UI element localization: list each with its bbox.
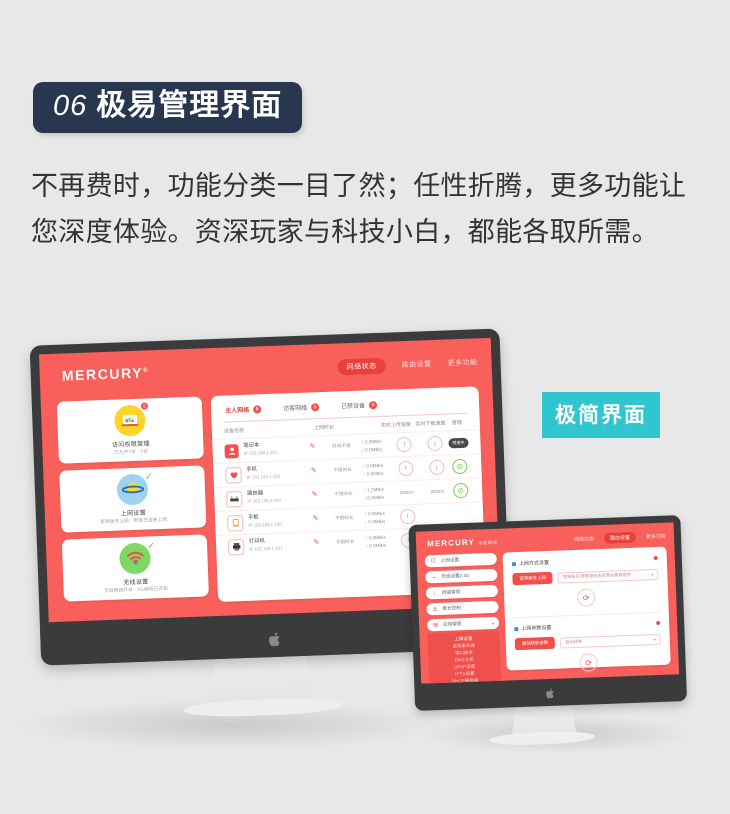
tab-count-badge: 0 [311,403,319,411]
section-number: 06 [53,92,87,121]
device-speed: ↑ 1.2MB/s ↓ 0.0MB/s [358,486,391,502]
display2-sidebar: ⏻ 上网设置 ⌁ 无线设置2.4G ↓ 终端管理 ⚓ 家长控制 [425,553,503,684]
download-speed: ↓ 0.0MB/s [358,493,390,502]
section-title-label: 上网方式设置 [519,559,549,567]
arrow-up-icon: ↑ [397,437,413,453]
download-limit-button[interactable]: ↓ [423,459,451,475]
apple-logo-icon [269,632,283,647]
device-identity: 打印机 IP 192.168.1.107 [228,536,302,555]
download-speed-value: 300K/s [424,488,451,494]
section-bullet-icon [514,627,518,631]
wifi-icon: ⌁ [430,574,437,581]
device-identity: 手机 IP 192.168.1.102 [225,464,299,483]
column-header-device-name: 设备名称 [224,425,308,435]
broadband-dial-button[interactable]: 宽带拨号上网 [512,572,553,585]
section-control-row: 宽带拨号上网 宽带账号/宽带密码由宽带运营商提供 ▾ [512,568,658,585]
card-wireless-settings[interactable]: ✓ 无线设置 无线网络开启 · 5G频段已开启 [62,534,209,601]
display2-top-nav: 网络状态 路由设置 更多功能 [574,531,666,545]
arrow-down-icon: ↓ [429,460,445,476]
section-divider [514,612,660,618]
imac-top-nav: 网络状态 路由设置 更多功能 [337,354,477,375]
tab-host-network[interactable]: 主人网络 5 [225,404,261,414]
laptop-chart-icon: 5 [114,404,146,436]
tab-label: 主人网络 [225,405,249,415]
manage-placeholder [452,514,471,515]
download-limit-value: 300K/s [430,489,444,494]
edit-pencil-icon[interactable]: ✎ [300,490,329,502]
section-title-label: 上网参数设置 [521,624,551,632]
arrow-up-icon: ↑ [398,461,414,477]
card-subtitle: 宽带拨号上网 · 带宽已连接上网 [100,517,167,525]
nav-tab-network-status[interactable]: 网络状态 [337,358,386,376]
sidebar-item-label: 应用管理 [443,621,462,628]
device-ip: IP 192.168.1.104 [247,498,281,506]
wifi-icon: ✓ [119,542,151,574]
card-check-icon: ✓ [147,541,155,550]
sidebar-item-app-management[interactable]: ⚒ 应用管理 ▾ [427,617,499,632]
device-duration: 不限时长 [328,467,357,475]
nav-tab-router-settings[interactable]: 路由设置 [401,359,431,370]
manage-action[interactable]: ⊘ [451,483,471,499]
download-speed: ↓ 0.0MB/s [356,445,388,454]
card-subtitle: 已允许2台 · 5台 [114,449,148,456]
card-title: 访问权限管理 [112,438,150,448]
display2-screen: MERCURY 水星网络 网络状态 路由设置 更多功能 ⏻ 上网设置 ⌁ 无线设… [416,522,679,683]
mercury-logo-text: MERCURY [427,538,475,549]
device-duration: 不限时长 [331,539,360,547]
download-speed: ↓ 0.0MB/s [357,469,389,478]
mercury-logo-subtitle: 水星网络 [478,540,497,546]
tab-guest-network[interactable]: 访客网络 0 [283,402,319,412]
device-identity: 平板 IP 192.168.1.105 [227,512,301,531]
tab-blocked-devices[interactable]: 已禁设备 0 [341,400,377,410]
arrow-up-icon: ↑ [400,509,416,525]
tools-icon: ⚒ [432,621,439,628]
edit-pencil-icon[interactable]: ✎ [299,466,328,478]
download-icon: ↓ [431,590,438,596]
device-duration: 时间不限 [327,443,356,451]
device-ip: IP 192.168.1.101 [244,450,278,458]
card-access-control[interactable]: 5 访问权限管理 已允许2台 · 5台 [57,396,204,463]
sidebar-item-label: 上网设置 [441,557,460,564]
device-ip: IP 192.168.1.107 [249,546,283,554]
card-subtitle: 无线网络开启 · 5G频段已开启 [104,586,168,594]
field-value: 自动获得 [565,639,582,646]
mercury-logo-secondary: MERCURY 水星网络 [427,537,498,549]
upload-limit-button[interactable]: ↑ [387,436,421,452]
minimal-ui-badge: 极简界面 [542,392,660,438]
tab-count-badge: 5 [253,405,261,413]
mercury-logo-text: MERCURY [61,365,143,384]
download-speed: ↓ 0.0MB/s [360,541,392,550]
section-title: 上网方式设置 [512,555,658,567]
upload-speed-value: 500K/s [390,489,424,495]
apple-logo-icon [546,688,555,699]
device-speed: ↑ 0.0MB/s ↓ 0.0MB/s [355,438,388,454]
chevron-down-icon: ▾ [654,637,656,642]
sidebar-item-terminal-management[interactable]: ↓ 终端管理 [426,585,498,600]
manage-action[interactable]: 限速中 [448,437,468,448]
download-speed: ↓ 0.0MB/s [359,517,391,526]
column-header-duration: 上网时长 [307,423,340,431]
nav-tab-router-settings[interactable]: 路由设置 [604,532,636,544]
card-check-icon: ✓ [145,472,153,481]
section-title: 上网参数设置 [514,620,660,632]
card-title: 无线设置 [123,576,149,586]
mercury-logo: MERCURY® [61,364,149,383]
sidebar-submenu: 上网设置 虚拟服务器 端口触发 DMZ主机 UPnP设置 IPTV设置 DHCP… [427,631,502,684]
display2-bezel: MERCURY 水星网络 网络状态 路由设置 更多功能 ⏻ 上网设置 ⌁ 无线设… [408,515,687,711]
tablet-icon [227,515,244,532]
section-internet-method: 上网方式设置 宽带拨号上网 宽带账号/宽带密码由宽带运营商提供 ▾ ⟳ [512,555,660,609]
manage-action[interactable]: ⊘ [450,459,470,475]
card-internet-settings[interactable]: ✓ 上网设置 宽带拨号上网 · 带宽已连接上网 [59,465,206,532]
download-limit-button[interactable]: ↓ [421,435,449,451]
display2-main-content: 上网方式设置 宽带拨号上网 宽带账号/宽带密码由宽带运营商提供 ▾ ⟳ [503,547,671,671]
edit-pencil-icon[interactable]: ✎ [298,442,327,454]
tab-label: 已禁设备 [341,400,365,410]
card-badge-count: 5 [141,402,148,409]
nav-tab-more-features[interactable]: 更多功能 [646,533,666,541]
column-header-upload: 实时上传速度 [377,421,415,429]
refresh-check-icon: ⟳ [579,653,598,672]
shield-icon: ⚓ [431,606,438,613]
device-ip: IP 192.168.1.102 [247,474,281,482]
lead-paragraph: 不再费时，功能分类一目了然；任性折腾，更多功能让您深度体验。资深玩家与科技小白，… [31,163,703,255]
device-speed: ↑ 0.0MB/s ↓ 0.0MB/s [359,510,392,526]
tab-count-badge: 0 [369,401,377,409]
sidebar-item-parental-control[interactable]: ⚓ 家长控制 [426,601,498,616]
status-badge: 限速中 [448,437,468,448]
sidebar-item-label: 终端管理 [442,589,461,596]
auto-params-field[interactable]: 自动获得 ▾ [560,633,661,648]
chevron-down-icon: ▾ [651,572,653,577]
edit-pencil-icon[interactable]: ✎ [302,538,331,550]
download-limit-placeholder [425,515,452,516]
power-icon: ⏻ [430,558,437,565]
router-icon [226,491,243,508]
section-title-badge: 06 极易管理界面 [33,82,302,133]
auto-params-button[interactable]: 自动获取参数 [515,637,556,650]
device-ip: IP 192.168.1.105 [248,522,282,530]
column-header-download: 实时下载速度 [415,420,446,428]
section-internet-params: 上网参数设置 自动获取参数 自动获得 ▾ ⟳ [514,620,662,674]
feature-card-column: 5 访问权限管理 已允许2台 · 5台 ✓ 上网 [57,396,209,608]
device-duration: 不限时长 [330,515,359,523]
forbid-icon: ⊘ [453,483,469,499]
device-identity: 路由器 IP 192.168.1.104 [226,488,300,507]
sidebar-item-label: 家长控制 [442,605,461,612]
page-title: 极易管理界面 [96,91,282,121]
heart-icon [225,467,242,484]
nav-tab-network-status[interactable]: 网络状态 [574,535,594,543]
printer-icon [228,539,245,556]
field-value: 宽带账号/宽带密码由宽带运营商提供 [563,572,631,580]
device-speed: ↑ 0.0MB/s ↓ 0.0MB/s [359,534,392,550]
broadband-account-field[interactable]: 宽带账号/宽带密码由宽带运营商提供 ▾ [558,568,659,583]
upload-limit-button[interactable]: ↑ [389,460,423,476]
sidebar-item-internet-settings[interactable]: ⏻ 上网设置 [425,553,497,568]
edit-pencil-icon[interactable]: ✎ [301,514,330,526]
refresh-check-icon: ⟳ [577,588,596,607]
promo-page: 06 极易管理界面 不再费时，功能分类一目了然；任性折腾，更多功能让您深度体验。… [0,0,730,814]
section-bullet-icon [512,562,516,566]
upload-limit-value: 500K/s [400,490,414,495]
chevron-down-icon: ▾ [492,620,494,625]
device-speed: ↑ 0.0MB/s ↓ 0.0MB/s [357,462,390,478]
arrow-down-icon: ↓ [427,436,443,452]
section-control-row: 自动获取参数 自动获得 ▾ [515,633,661,650]
person-icon [224,444,239,459]
card-title: 上网设置 [121,507,147,517]
column-header-manage: 管理 [446,419,468,427]
device-duration: 不限时长 [329,491,358,499]
sidebar-item-wireless-settings[interactable]: ⌁ 无线设置2.4G [425,569,497,584]
second-display-device: MERCURY 水星网络 网络状态 路由设置 更多功能 ⏻ 上网设置 ⌁ 无线设… [408,515,687,725]
registered-mark: ® [143,368,149,374]
nav-tab-more-features[interactable]: 更多功能 [447,357,477,368]
tab-label: 访客网络 [283,403,307,413]
forbid-icon: ⊘ [452,459,468,475]
sidebar-item-label: 无线设置2.4G [441,573,470,580]
globe-planet-icon: ✓ [116,473,148,505]
upload-limit-button[interactable]: ↑ [391,508,425,524]
device-identity: 笔记本 IP 192.168.1.101 [224,441,298,458]
